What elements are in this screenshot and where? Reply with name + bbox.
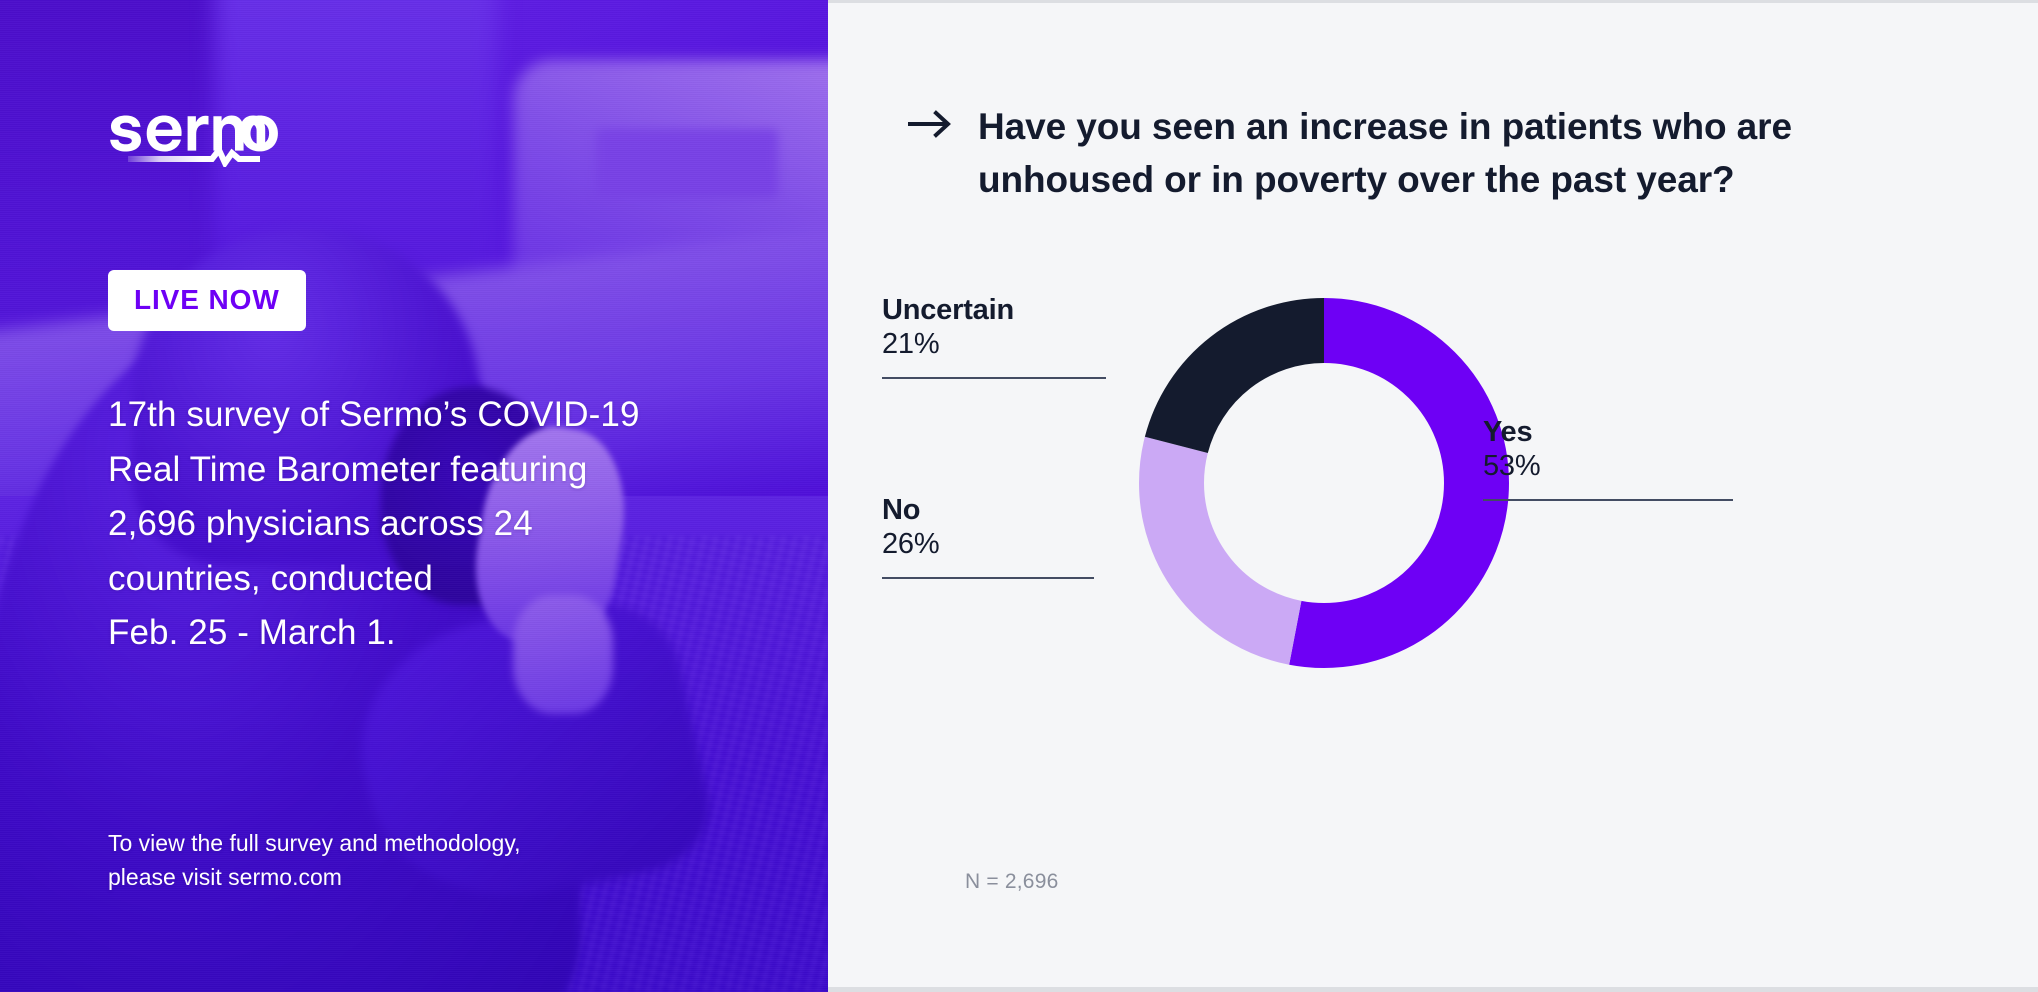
sample-size-label: N = 2,696 — [965, 870, 1058, 894]
live-now-badge[interactable]: LIVE NOW — [108, 270, 306, 331]
donut-label-uncertain-name: Uncertain — [882, 293, 1132, 327]
right-chart-panel: Have you seen an increase in patients wh… — [828, 0, 2038, 992]
donut-label-yes-value: 53% — [1483, 449, 1733, 485]
donut-label-uncertain-value: 21% — [882, 327, 1132, 363]
sermo-logo[interactable] — [108, 105, 278, 167]
donut-label-yes: Yes 53% — [1483, 415, 1733, 501]
donut-chart-svg — [1134, 293, 1514, 673]
donut-label-no-value: 26% — [882, 527, 1132, 563]
donut-label-yes-name: Yes — [1483, 415, 1733, 449]
survey-description: 17th survey of Sermo’s COVID-19 Real Tim… — [108, 388, 708, 661]
pulse-underline-icon — [128, 150, 260, 163]
donut-leader-line-uncertain — [882, 377, 1106, 379]
donut-label-no: No 26% — [882, 493, 1132, 579]
donut-label-uncertain: Uncertain 21% — [882, 293, 1132, 379]
left-hero-panel: LIVE NOW 17th survey of Sermo’s COVID-19… — [0, 0, 828, 992]
left-content-overlay: LIVE NOW 17th survey of Sermo’s COVID-19… — [0, 0, 828, 992]
donut-leader-line-no — [882, 577, 1094, 579]
donut-leader-line-yes — [1483, 499, 1733, 501]
donut-label-no-name: No — [882, 493, 1132, 527]
donut-chart: Uncertain 21% No 26% Yes 53% N = 2,696 — [828, 3, 2038, 987]
methodology-footnote: To view the full survey and methodology,… — [108, 827, 708, 894]
infographic-root: LIVE NOW 17th survey of Sermo’s COVID-19… — [0, 0, 2038, 992]
